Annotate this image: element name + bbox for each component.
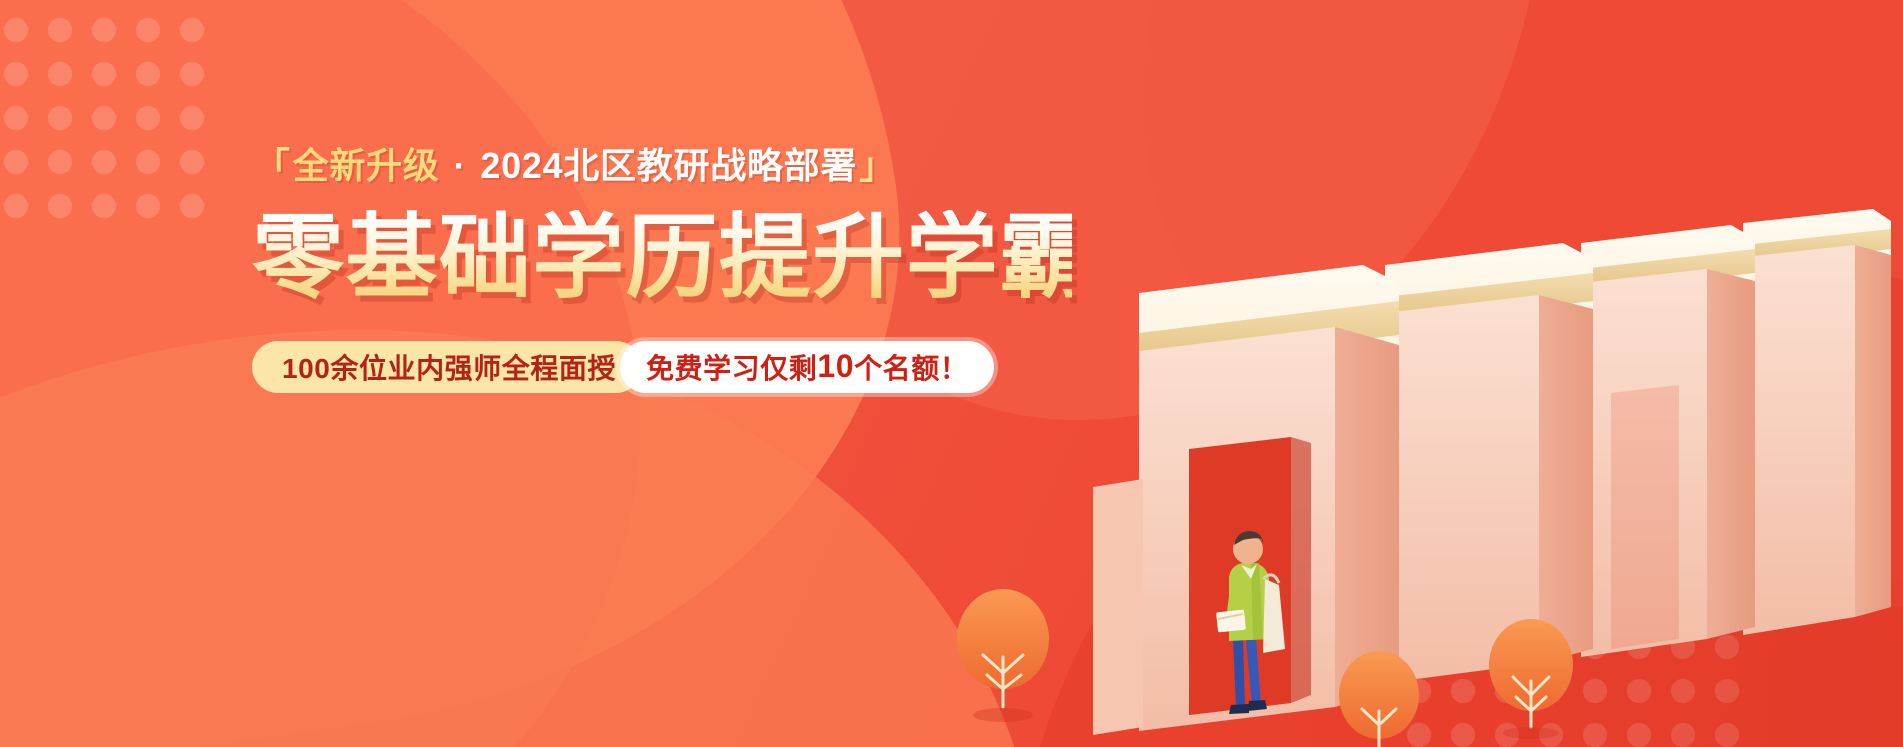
quota-suffix: 个名额！	[854, 347, 968, 387]
bracket-close: 」	[859, 148, 896, 184]
eyebrow-highlight: 全新升级	[293, 148, 440, 184]
teachers-pill[interactable]: 100余位业内强师全程面授	[252, 341, 642, 393]
dot-grid-top-left-icon	[0, 8, 222, 238]
promo-banner: 「 全新升级 · 2024北区教研战略部署 」 零基础学历提升学霸班 100余位…	[0, 0, 1903, 747]
banner-eyebrow: 「 全新升级 · 2024北区教研战略部署 」	[252, 148, 1072, 184]
banner-pill-row: 100余位业内强师全程面授 免费学习仅剩10个名额！	[252, 341, 1072, 393]
quota-pill[interactable]: 免费学习仅剩10个名额！	[620, 341, 994, 393]
eyebrow-plain: 2024北区教研战略部署	[480, 148, 857, 184]
banner-headline: 零基础学历提升学霸班	[252, 210, 1072, 307]
dot-grid-bottom-right-icon	[1397, 581, 1753, 747]
quota-count: 10	[817, 348, 854, 385]
bracket-open: 「	[254, 148, 291, 184]
quota-prefix: 免费学习仅剩	[646, 347, 817, 387]
eyebrow-separator-icon: ·	[454, 148, 467, 184]
banner-copy: 「 全新升级 · 2024北区教研战略部署 」 零基础学历提升学霸班 100余位…	[252, 148, 1072, 393]
